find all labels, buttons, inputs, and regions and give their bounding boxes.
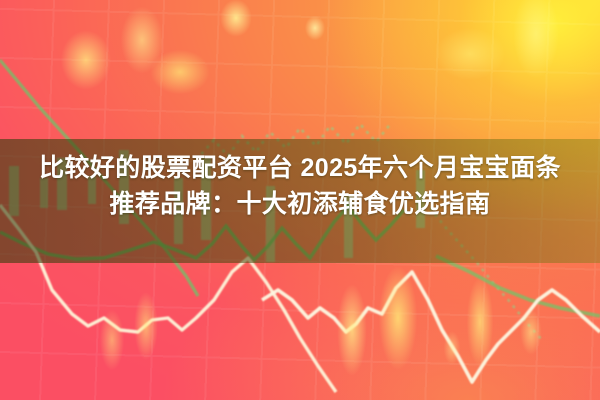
banner-image: 比较好的股票配资平台 2025年六个月宝宝面条 推荐品牌：十大初添辅食优选指南 [0, 0, 600, 400]
headline-line-2: 推荐品牌：十大初添辅食优选指南 [0, 186, 600, 222]
headline-line-1: 比较好的股票配资平台 2025年六个月宝宝面条 [0, 150, 600, 186]
headline-text: 比较好的股票配资平台 2025年六个月宝宝面条 推荐品牌：十大初添辅食优选指南 [0, 150, 600, 222]
